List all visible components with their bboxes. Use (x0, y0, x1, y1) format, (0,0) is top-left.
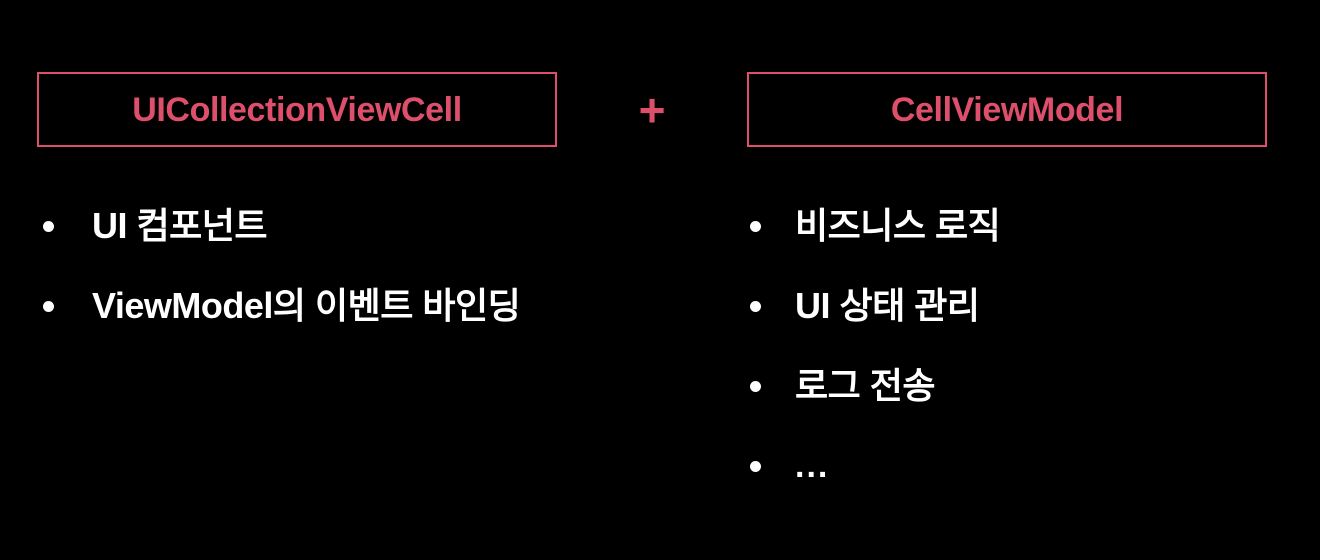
list-item: UI 컴포넌트 (37, 200, 657, 280)
list-item: 로그 전송 (745, 360, 1305, 440)
uicollectionviewcell-box: UICollectionViewCell (37, 72, 557, 147)
list-item: 비즈니스 로직 (745, 200, 1305, 280)
list-item-label: UI 컴포넌트 (92, 200, 267, 252)
list-item: ... (745, 440, 1305, 520)
plus-symbol: + (639, 87, 666, 133)
list-item-label: UI 상태 관리 (795, 280, 979, 332)
left-bullet-list: UI 컴포넌트 ViewModel의 이벤트 바인딩 (37, 200, 657, 360)
list-item: UI 상태 관리 (745, 280, 1305, 360)
bullet-dot-icon (750, 381, 761, 392)
bullet-dot-icon (750, 301, 761, 312)
slide-root: UICollectionViewCell + CellViewModel UI … (0, 0, 1320, 560)
bullet-dot-icon (750, 461, 761, 472)
list-item-label: 비즈니스 로직 (795, 200, 1000, 252)
bullet-dot-icon (43, 301, 54, 312)
cellviewmodel-title: CellViewModel (891, 93, 1123, 127)
bullet-dot-icon (43, 221, 54, 232)
list-item-label: 로그 전송 (795, 360, 935, 412)
list-item-label: ViewModel의 이벤트 바인딩 (92, 280, 520, 332)
bullet-dot-icon (750, 221, 761, 232)
uicollectionviewcell-title: UICollectionViewCell (132, 93, 462, 127)
bullet-columns: UI 컴포넌트 ViewModel의 이벤트 바인딩 비즈니스 로직 UI 상태… (0, 200, 1320, 560)
cellviewmodel-box: CellViewModel (747, 72, 1267, 147)
list-item-label: ... (795, 440, 829, 492)
plus-icon: + (557, 72, 747, 147)
list-item: ViewModel의 이벤트 바인딩 (37, 280, 657, 360)
right-bullet-list: 비즈니스 로직 UI 상태 관리 로그 전송 ... (745, 200, 1305, 520)
header-row: UICollectionViewCell + CellViewModel (0, 72, 1320, 147)
